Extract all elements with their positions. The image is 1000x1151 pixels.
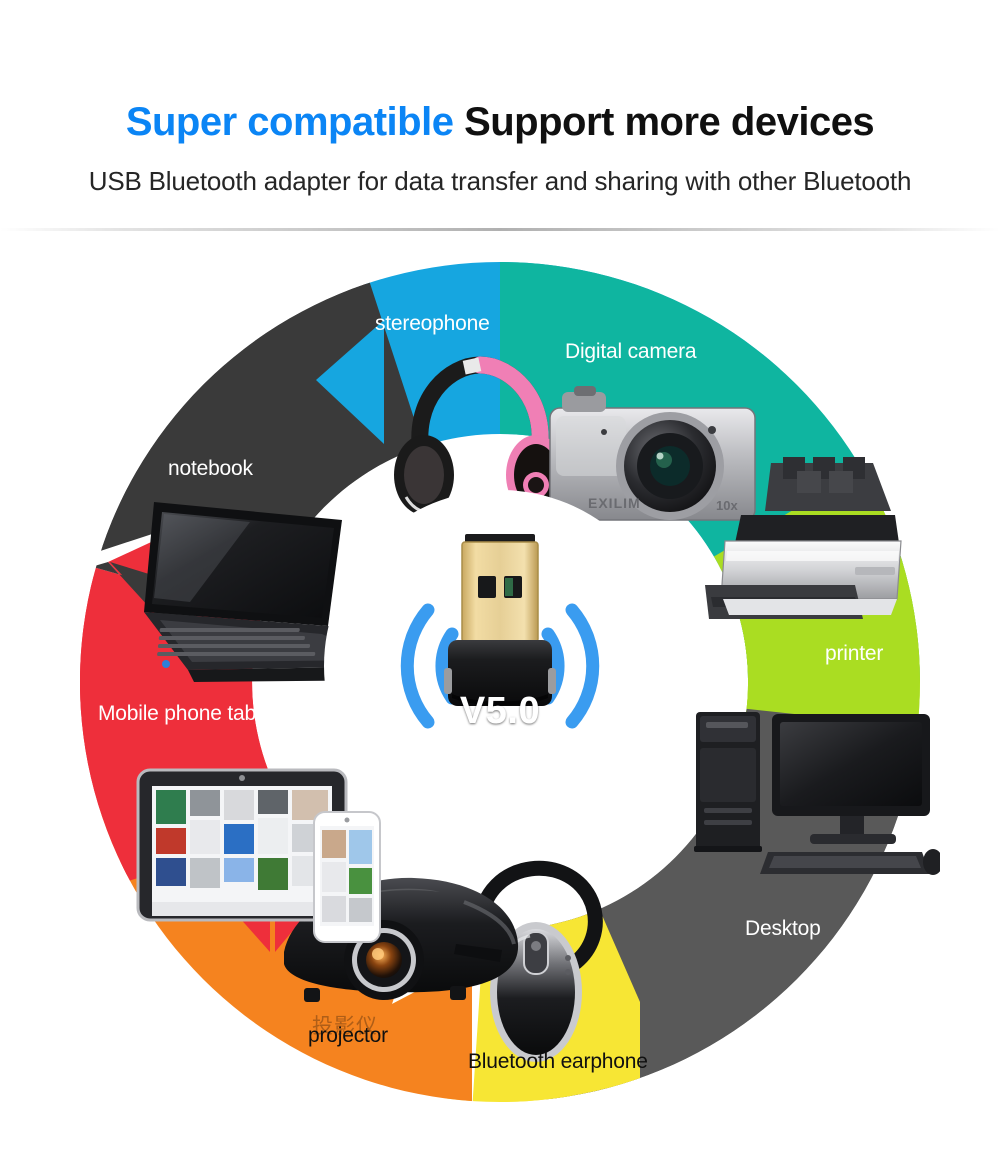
segment-label-desktop: Desktop [745, 917, 821, 941]
desktop-computer-icon [690, 702, 940, 902]
page-title: Super compatible Support more devices [0, 100, 1000, 145]
header: Super compatible Support more devices US… [0, 0, 1000, 228]
segment-label-notebook: notebook [168, 457, 253, 481]
inkjet-printer-icon [705, 457, 905, 647]
segment-label-projector: projector [308, 1024, 388, 1048]
segment-label-digital-camera: Digital camera [565, 340, 696, 364]
segment-label-printer: printer [825, 642, 883, 666]
headline-plain: Support more devices [464, 100, 874, 144]
usb-bluetooth-dongle [324, 490, 676, 842]
wheel-center-hub: V5.0 [324, 490, 676, 842]
header-divider [0, 228, 1000, 231]
product-infographic-page: Super compatible Support more devices US… [0, 0, 1000, 1151]
page-subtitle: USB Bluetooth adapter for data transfer … [0, 166, 1000, 197]
segment-label-mobile: Mobile phone tablet [98, 702, 278, 726]
headline-accent: Super compatible [126, 100, 454, 144]
version-label: V5.0 [324, 690, 676, 733]
compatibility-wheel: EXILIM 10x [80, 262, 920, 1102]
segment-label-stereophone: stereophone [375, 312, 490, 336]
segment-label-earphone: Bluetooth earphone [468, 1050, 648, 1074]
